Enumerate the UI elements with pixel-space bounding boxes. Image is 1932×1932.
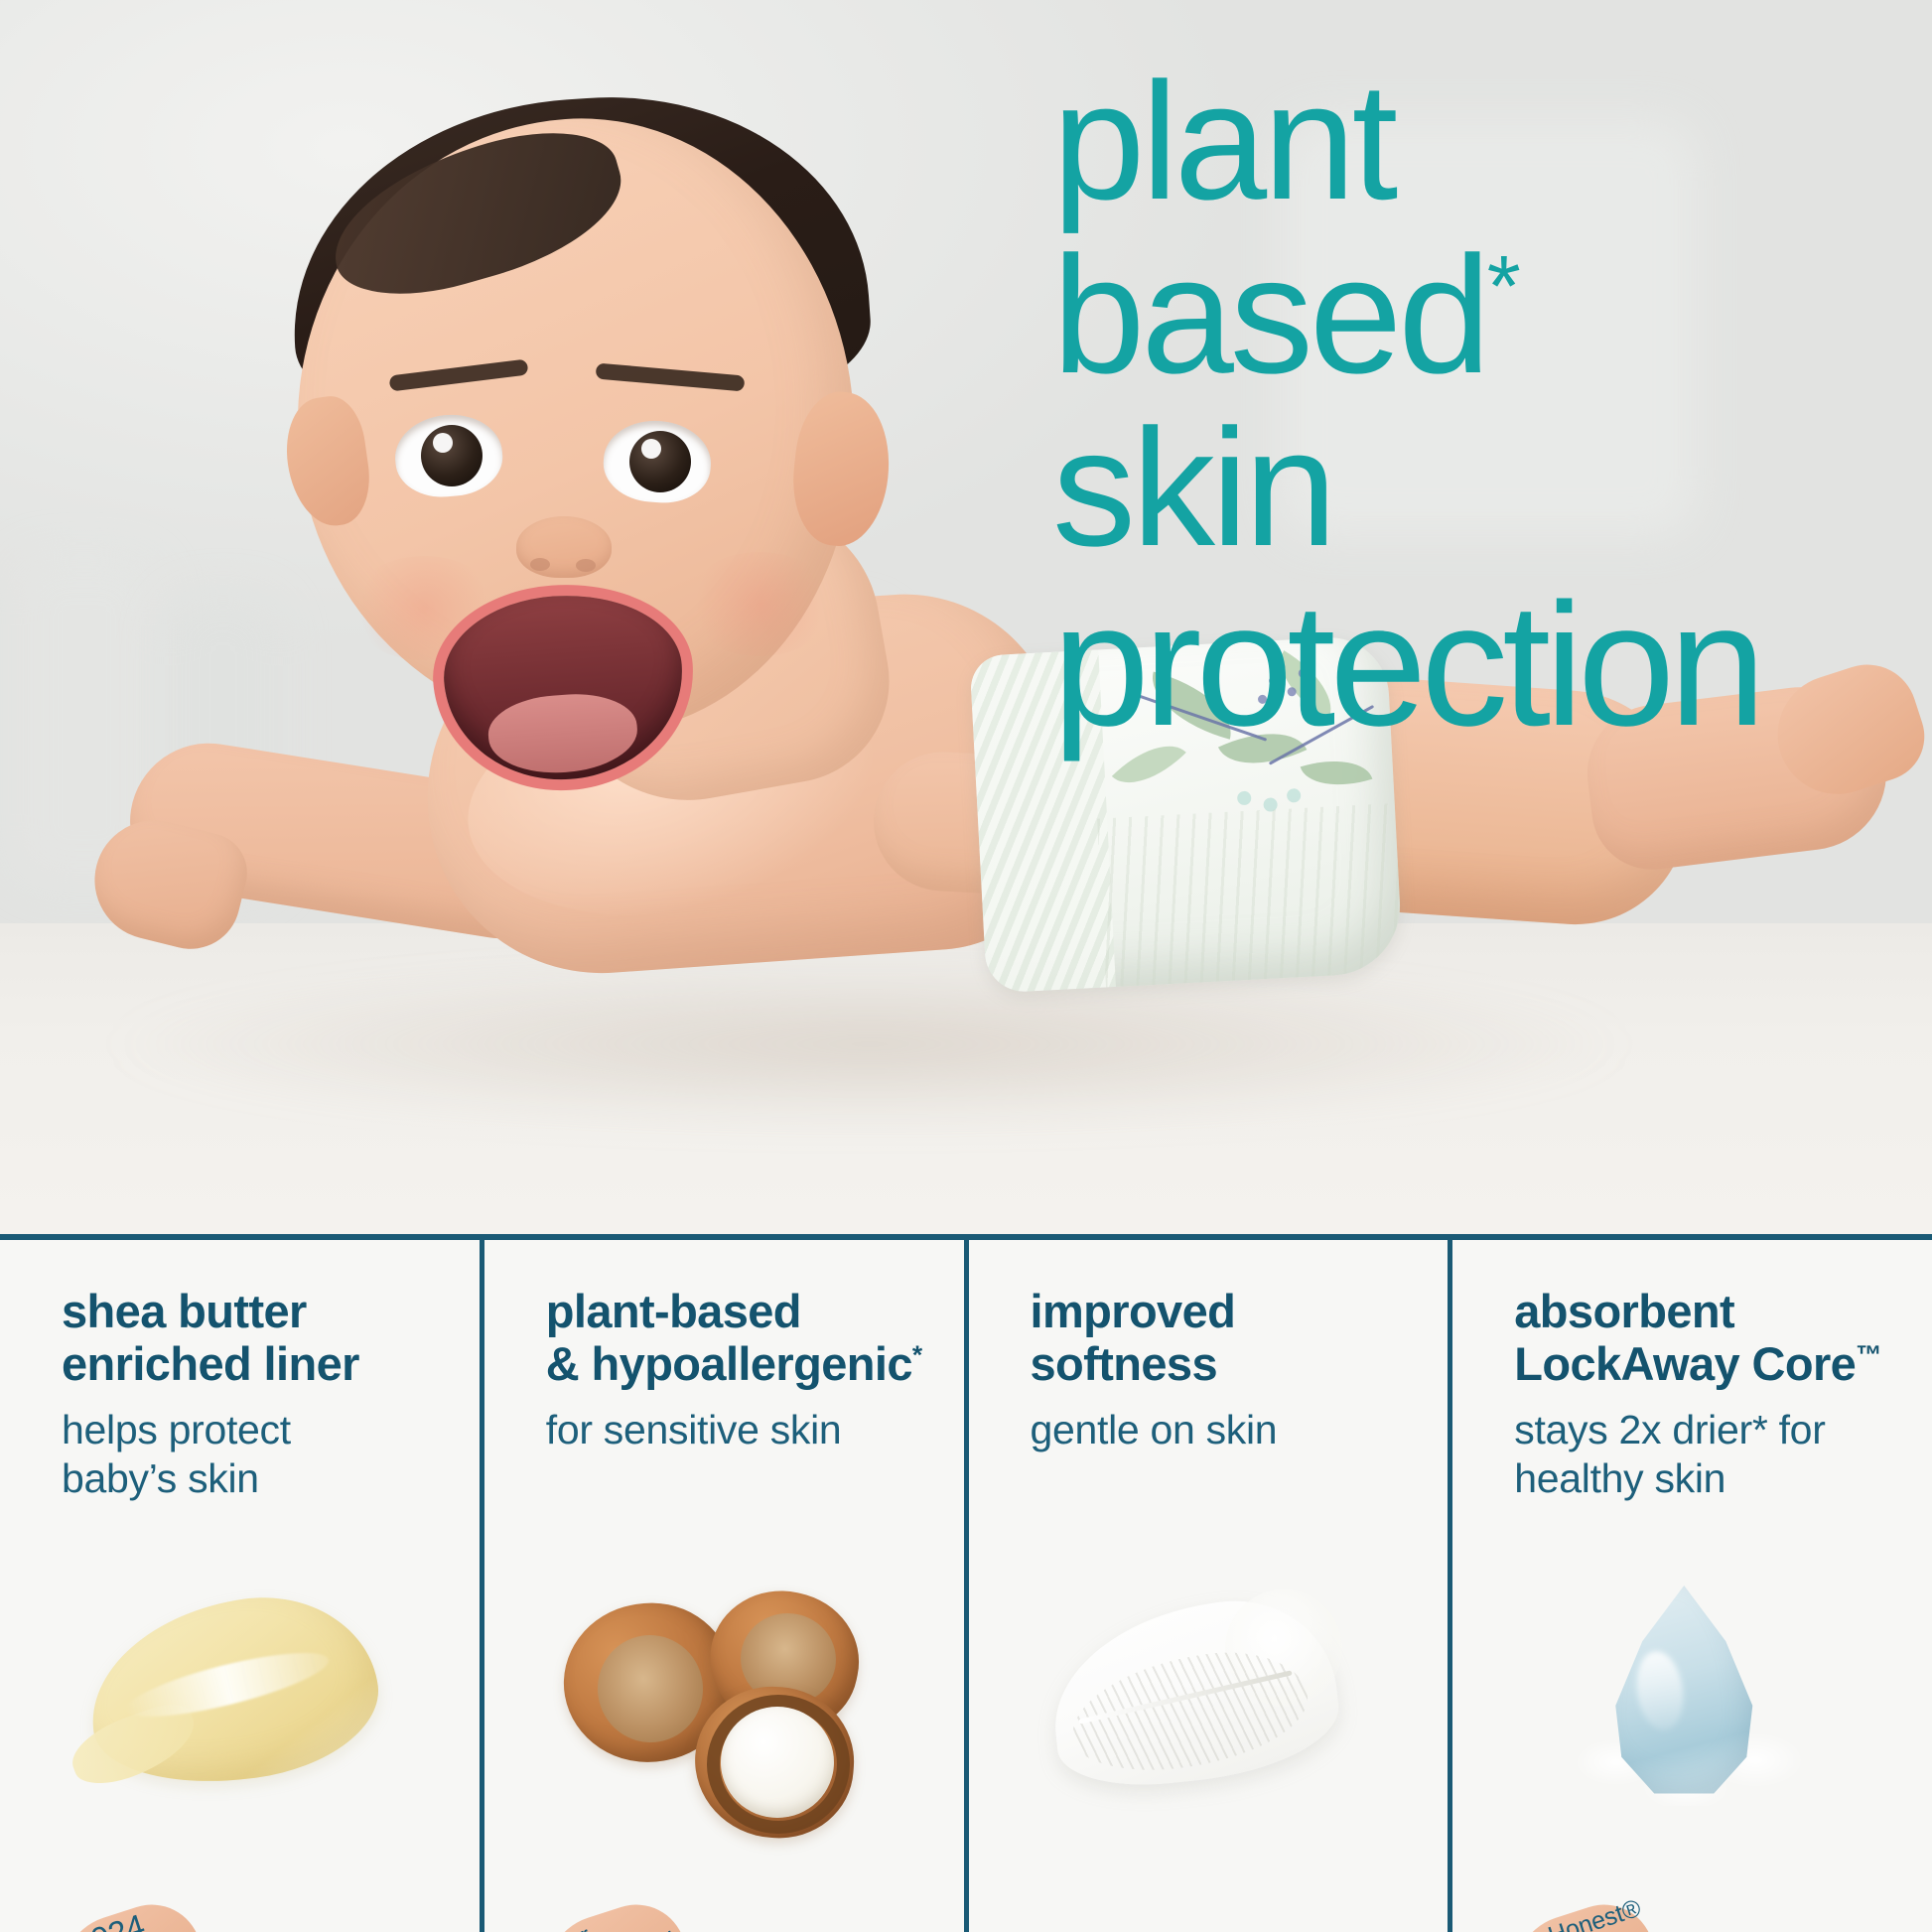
feature-column-softness: improved softness gentle on skin bbox=[964, 1240, 1449, 1932]
white-feather-icon bbox=[1031, 1568, 1358, 1816]
baby-nose bbox=[516, 516, 612, 578]
baby-iris bbox=[421, 425, 483, 486]
footnote-vs-honest: *vs. Honest® diapers. bbox=[1499, 1892, 1673, 1932]
diaper-pleats bbox=[1097, 803, 1403, 987]
footnote-plant-based: *liner enriched with plant-based, skin-s… bbox=[531, 1892, 705, 1932]
diaper-dot-print bbox=[1237, 791, 1252, 806]
product-feature-poster: plant based* skin protection shea butter… bbox=[0, 0, 1932, 1932]
feature-columns: shea butter enriched liner helps protect… bbox=[0, 1240, 1932, 1932]
baby-nostril bbox=[576, 559, 596, 572]
feature-subtitle: helps protect baby’s skin bbox=[62, 1406, 450, 1503]
asterisk-marker: * bbox=[1487, 237, 1517, 335]
headline-line-1: plant bbox=[1052, 55, 1926, 228]
baby-eye-glint bbox=[433, 433, 453, 453]
hero-photo: plant based* skin protection bbox=[0, 0, 1932, 1234]
baby-cheek bbox=[685, 552, 834, 656]
water-droplet-icon bbox=[1514, 1568, 1842, 1816]
baby-iris bbox=[629, 431, 691, 492]
feature-title: plant-based & hypoallergenic* bbox=[546, 1286, 934, 1390]
feature-subtitle: gentle on skin bbox=[1031, 1406, 1419, 1454]
baby-eye-glint bbox=[641, 439, 661, 459]
baby-nostril bbox=[530, 558, 550, 571]
feature-title: shea butter enriched liner bbox=[62, 1286, 450, 1390]
droplet-body bbox=[1609, 1586, 1758, 1800]
headline-line-2: based* bbox=[1052, 228, 1926, 402]
feature-column-lockaway-core: absorbent LockAway Core™ stays 2x drier*… bbox=[1448, 1240, 1932, 1932]
diaper-dot-print bbox=[1287, 788, 1302, 803]
headline-line-4: protection bbox=[1052, 575, 1926, 757]
feature-column-plant-based: plant-based & hypoallergenic* for sensit… bbox=[480, 1240, 964, 1932]
feature-title: improved softness bbox=[1031, 1286, 1419, 1390]
page-title: plant based* skin protection bbox=[1052, 55, 1926, 757]
feature-subtitle: for sensitive skin bbox=[546, 1406, 934, 1454]
shea-butter-cream-swatch-icon bbox=[62, 1568, 389, 1816]
feature-title: absorbent LockAway Core™ bbox=[1514, 1286, 1902, 1390]
copyright-notice: ©2024 P&G bbox=[47, 1892, 220, 1932]
feature-column-shea-butter: shea butter enriched liner helps protect… bbox=[0, 1240, 480, 1932]
feature-subtitle: stays 2x drier* for healthy skin bbox=[1514, 1406, 1902, 1503]
trademark-marker: ™ bbox=[1856, 1339, 1881, 1369]
headline-line-3: skin bbox=[1052, 401, 1926, 575]
feature-panel: shea butter enriched liner helps protect… bbox=[0, 1234, 1932, 1932]
shea-butter-inside bbox=[721, 1707, 834, 1818]
asterisk-marker: * bbox=[912, 1339, 922, 1369]
shea-nuts-icon bbox=[546, 1568, 874, 1816]
